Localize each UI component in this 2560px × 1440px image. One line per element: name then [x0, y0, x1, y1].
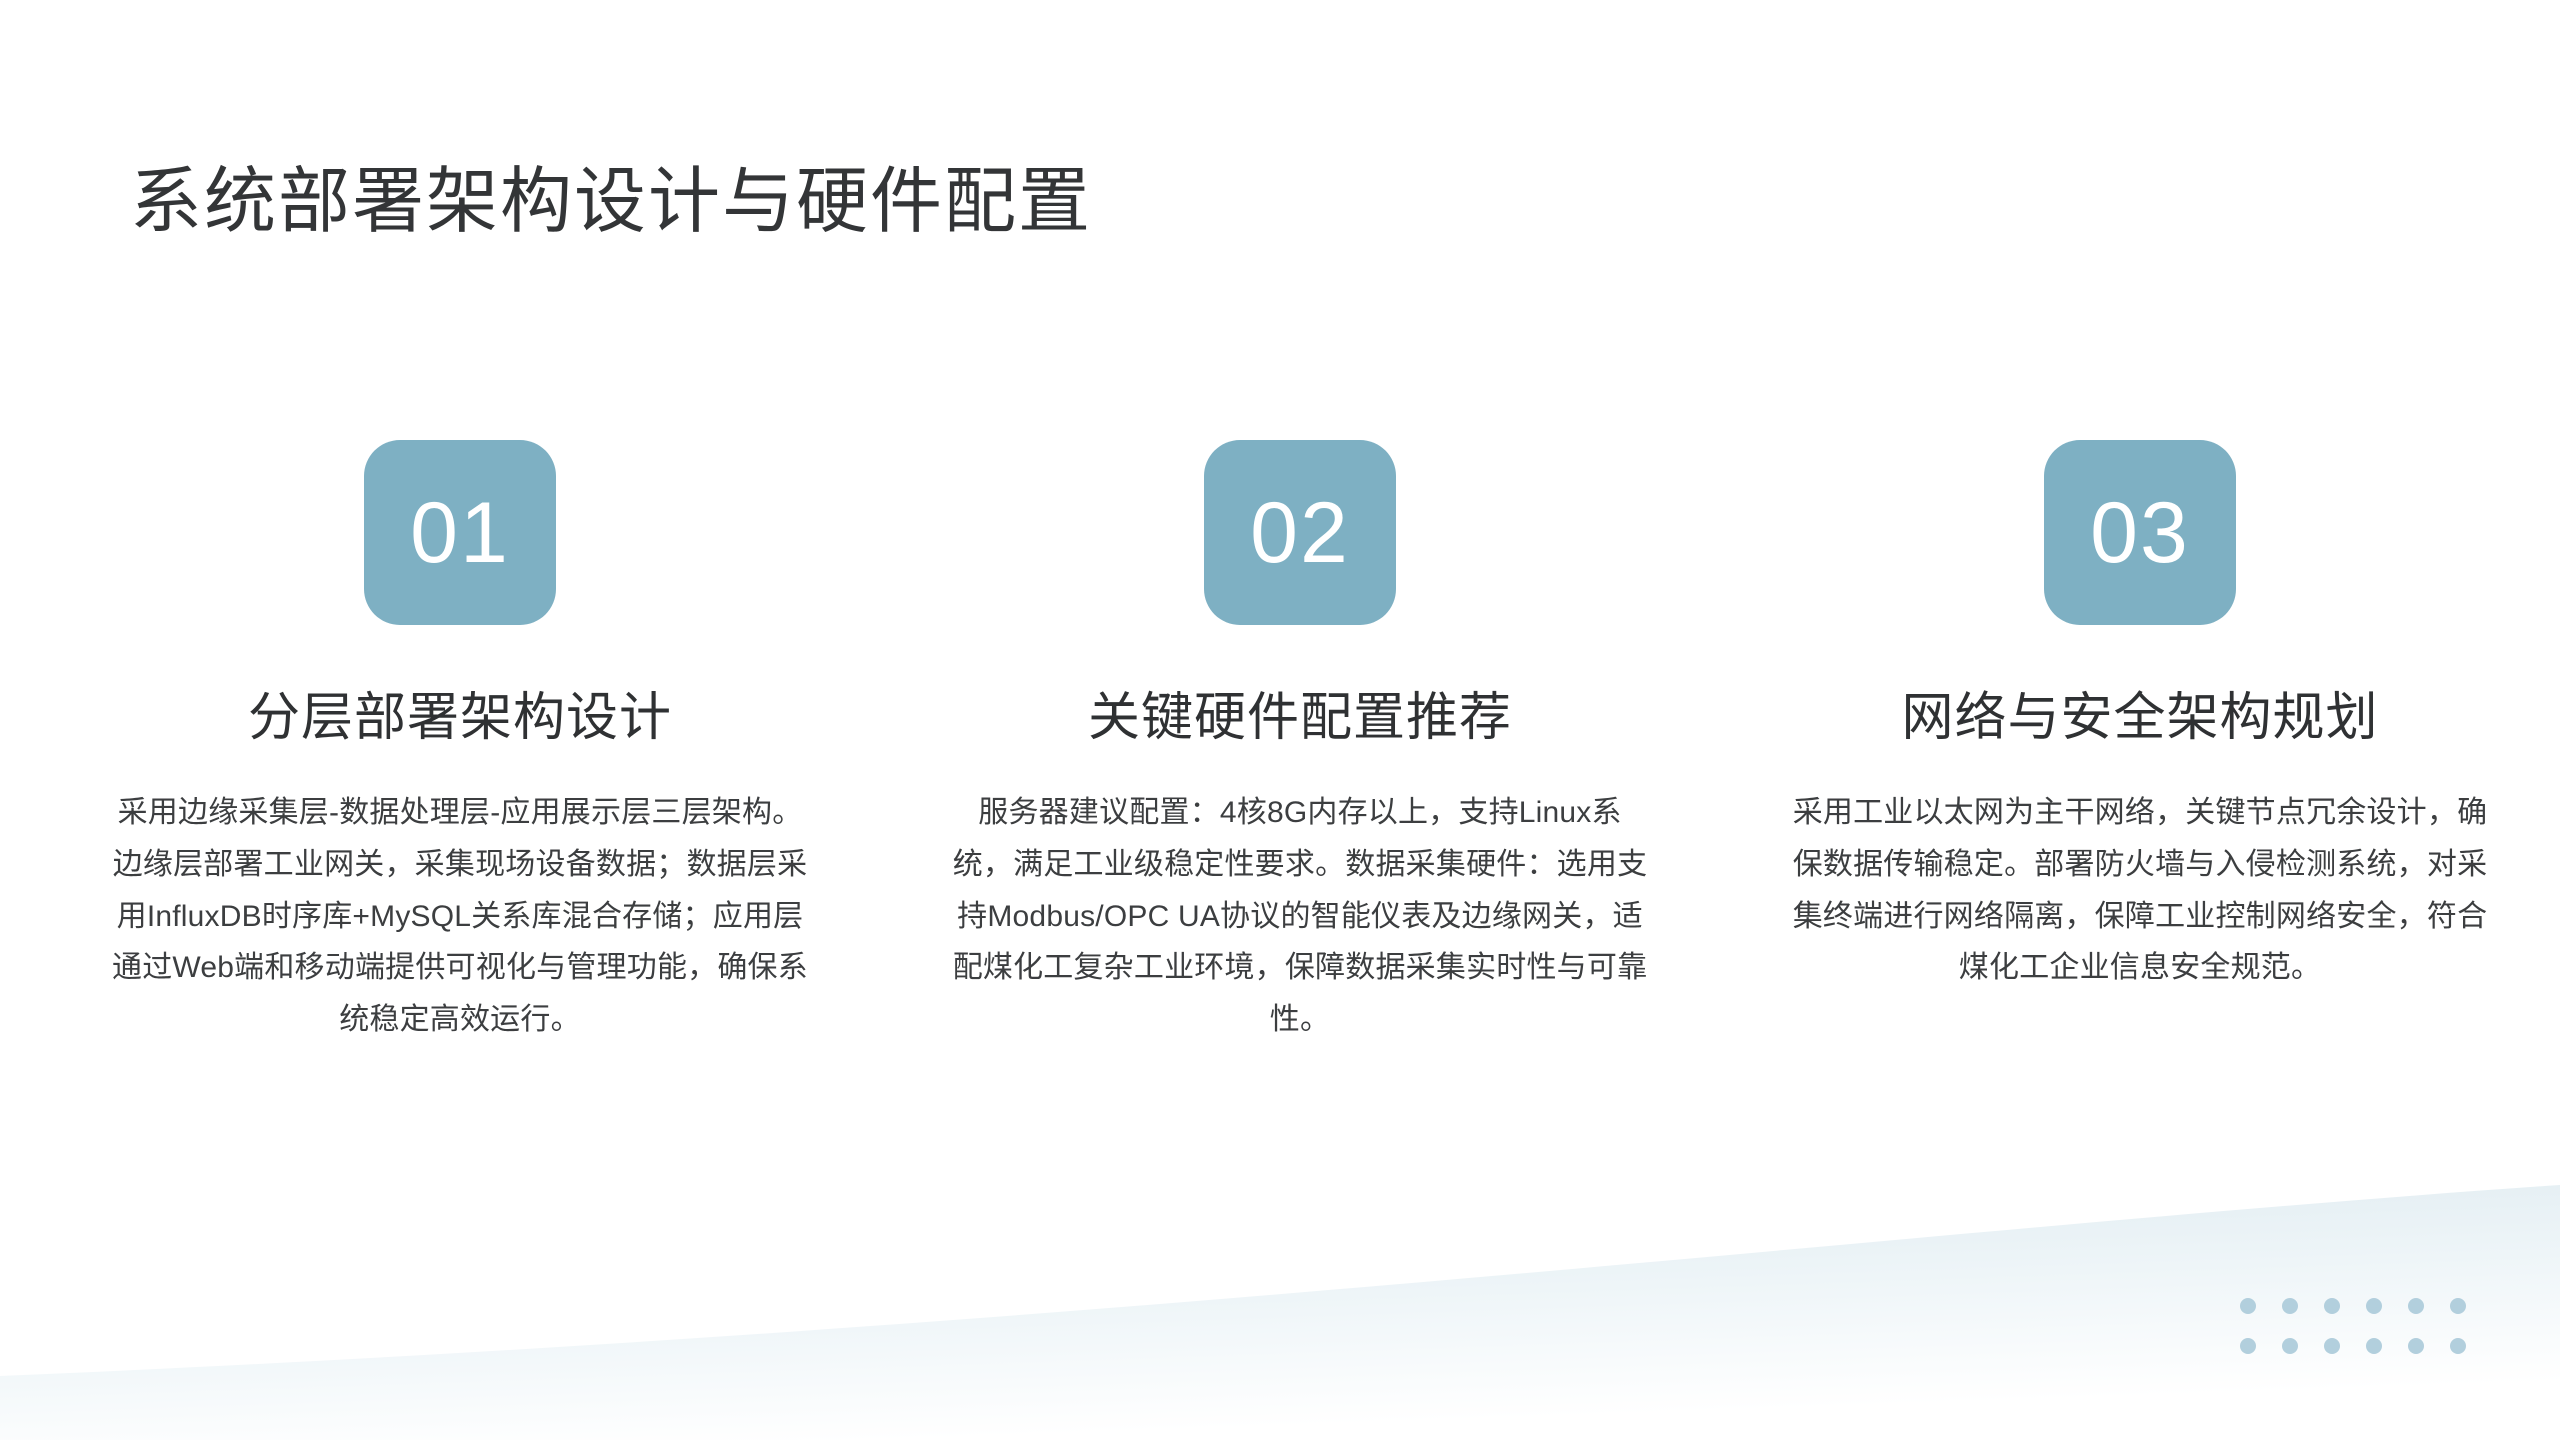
card-heading-3: 网络与安全架构规划	[1901, 687, 2378, 749]
feature-card-1: 01 分层部署架构设计 采用边缘采集层-数据处理层-应用展示层三层架构。边缘层部…	[110, 440, 810, 1045]
step-badge-03: 03	[2044, 440, 2236, 625]
decorative-dot	[2240, 1338, 2256, 1354]
step-badge-02: 02	[1204, 440, 1396, 625]
decorative-dot	[2408, 1298, 2424, 1314]
dot-grid-decoration	[2240, 1298, 2466, 1354]
card-body-1: 采用边缘采集层-数据处理层-应用展示层三层架构。边缘层部署工业网关，采集现场设备…	[110, 787, 810, 1045]
decorative-dot	[2324, 1298, 2340, 1314]
card-heading-2: 关键硬件配置推荐	[1088, 687, 1512, 749]
card-body-2: 服务器建议配置：4核8G内存以上，支持Linux系统，满足工业级稳定性要求。数据…	[950, 787, 1650, 1045]
step-badge-number: 03	[2090, 490, 2190, 576]
decorative-dot	[2240, 1298, 2256, 1314]
decorative-dot	[2408, 1338, 2424, 1354]
decorative-dot	[2282, 1298, 2298, 1314]
feature-columns: 01 分层部署架构设计 采用边缘采集层-数据处理层-应用展示层三层架构。边缘层部…	[0, 440, 2560, 1045]
decorative-dot	[2450, 1338, 2466, 1354]
step-badge-number: 01	[410, 490, 510, 576]
decorative-dot	[2366, 1298, 2382, 1314]
decorative-dot	[2324, 1338, 2340, 1354]
card-body-3: 采用工业以太网为主干网络，关键节点冗余设计，确保数据传输稳定。部署防火墙与入侵检…	[1790, 787, 2490, 993]
feature-card-3: 03 网络与安全架构规划 采用工业以太网为主干网络，关键节点冗余设计，确保数据传…	[1790, 440, 2490, 1045]
step-badge-number: 02	[1250, 490, 1350, 576]
feature-card-2: 02 关键硬件配置推荐 服务器建议配置：4核8G内存以上，支持Linux系统，满…	[950, 440, 1650, 1045]
decorative-dot	[2450, 1298, 2466, 1314]
card-heading-1: 分层部署架构设计	[248, 687, 672, 749]
decorative-dot	[2282, 1338, 2298, 1354]
page-title: 系统部署架构设计与硬件配置	[130, 160, 1092, 245]
step-badge-01: 01	[364, 440, 556, 625]
decorative-dot	[2366, 1338, 2382, 1354]
